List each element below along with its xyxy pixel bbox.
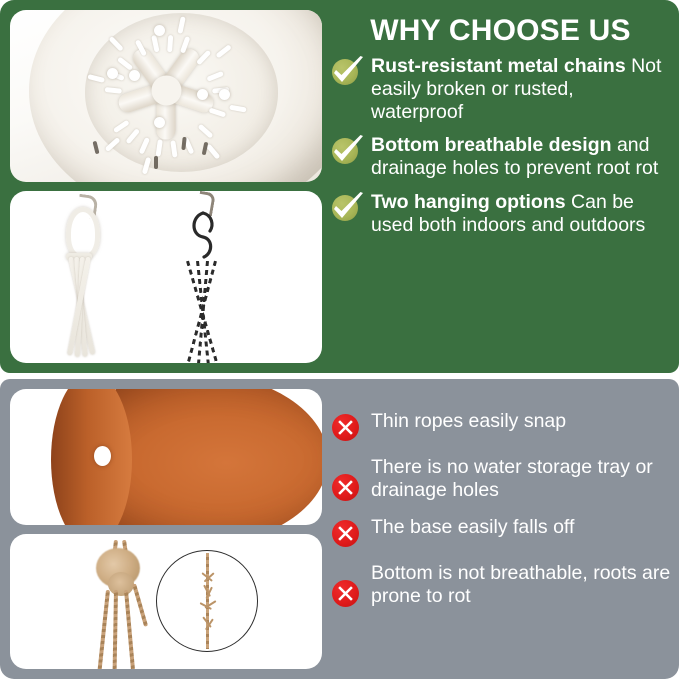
s-hook-icon: [188, 209, 218, 265]
list-item-bold: Rust-resistant metal chains: [371, 55, 626, 77]
cons-panel: Thin ropes easily snap There is no water…: [0, 379, 679, 679]
list-item-text: There is no water storage tray or draina…: [364, 455, 671, 502]
list-item: There is no water storage tray or draina…: [330, 455, 671, 503]
cross-circle-icon: [330, 577, 364, 609]
terracotta-pot-interior-photo: [10, 389, 322, 525]
pros-photo-column: [0, 0, 322, 373]
cross-circle-icon: [330, 411, 364, 443]
list-item: Rust-resistant metal chains Not easily b…: [330, 54, 671, 123]
magnifier-circle: [156, 550, 258, 652]
cross-circle-icon: [330, 471, 364, 503]
list-item: Thin ropes easily snap: [330, 409, 671, 443]
check-circle-icon: [330, 192, 364, 224]
cons-bullet-list: Thin ropes easily snap There is no water…: [330, 409, 671, 621]
check-circle-icon: [330, 135, 364, 167]
list-item-text: Thin ropes easily snap: [364, 409, 566, 433]
list-item-text: Rust-resistant metal chains Not easily b…: [364, 54, 671, 123]
list-item-text: Bottom breathable design and drainage ho…: [364, 133, 671, 180]
cross-circle-icon: [330, 517, 364, 549]
list-item: Two hanging options Can be used both ind…: [330, 190, 671, 237]
pot-rim: [51, 389, 132, 525]
cons-photo-column: [0, 379, 322, 679]
cons-text-column: Thin ropes easily snap There is no water…: [322, 379, 679, 679]
rope-knot-lower: [108, 572, 134, 596]
list-item-bold: Two hanging options: [371, 191, 566, 213]
list-item: Bottom breathable design and drainage ho…: [330, 133, 671, 180]
pros-panel: WHY CHOOSE US Rust-resistant metal chain…: [0, 0, 679, 373]
frayed-rope-photo: [10, 534, 322, 670]
planter-terracotta-base: [113, 158, 238, 182]
list-item-text: Bottom is not breathable, roots are pron…: [364, 561, 671, 608]
cord-loop: [66, 207, 100, 259]
list-item-bold: Bottom breathable design: [371, 134, 612, 156]
broken-strand: [206, 553, 209, 649]
planter-bottom-drainage-photo: [10, 10, 322, 182]
list-item: Bottom is not breathable, roots are pron…: [330, 561, 671, 609]
pros-text-column: WHY CHOOSE US Rust-resistant metal chain…: [322, 0, 679, 373]
page-title: WHY CHOOSE US: [330, 16, 671, 46]
pros-bullet-list: Rust-resistant metal chains Not easily b…: [330, 54, 671, 247]
list-item-text: Two hanging options Can be used both ind…: [364, 190, 671, 237]
check-circle-icon: [330, 56, 364, 88]
comparison-infographic: WHY CHOOSE US Rust-resistant metal chain…: [0, 0, 679, 679]
list-item-text: The base easily falls off: [364, 515, 574, 539]
hanging-options-photo: [10, 191, 322, 363]
list-item: The base easily falls off: [330, 515, 671, 549]
